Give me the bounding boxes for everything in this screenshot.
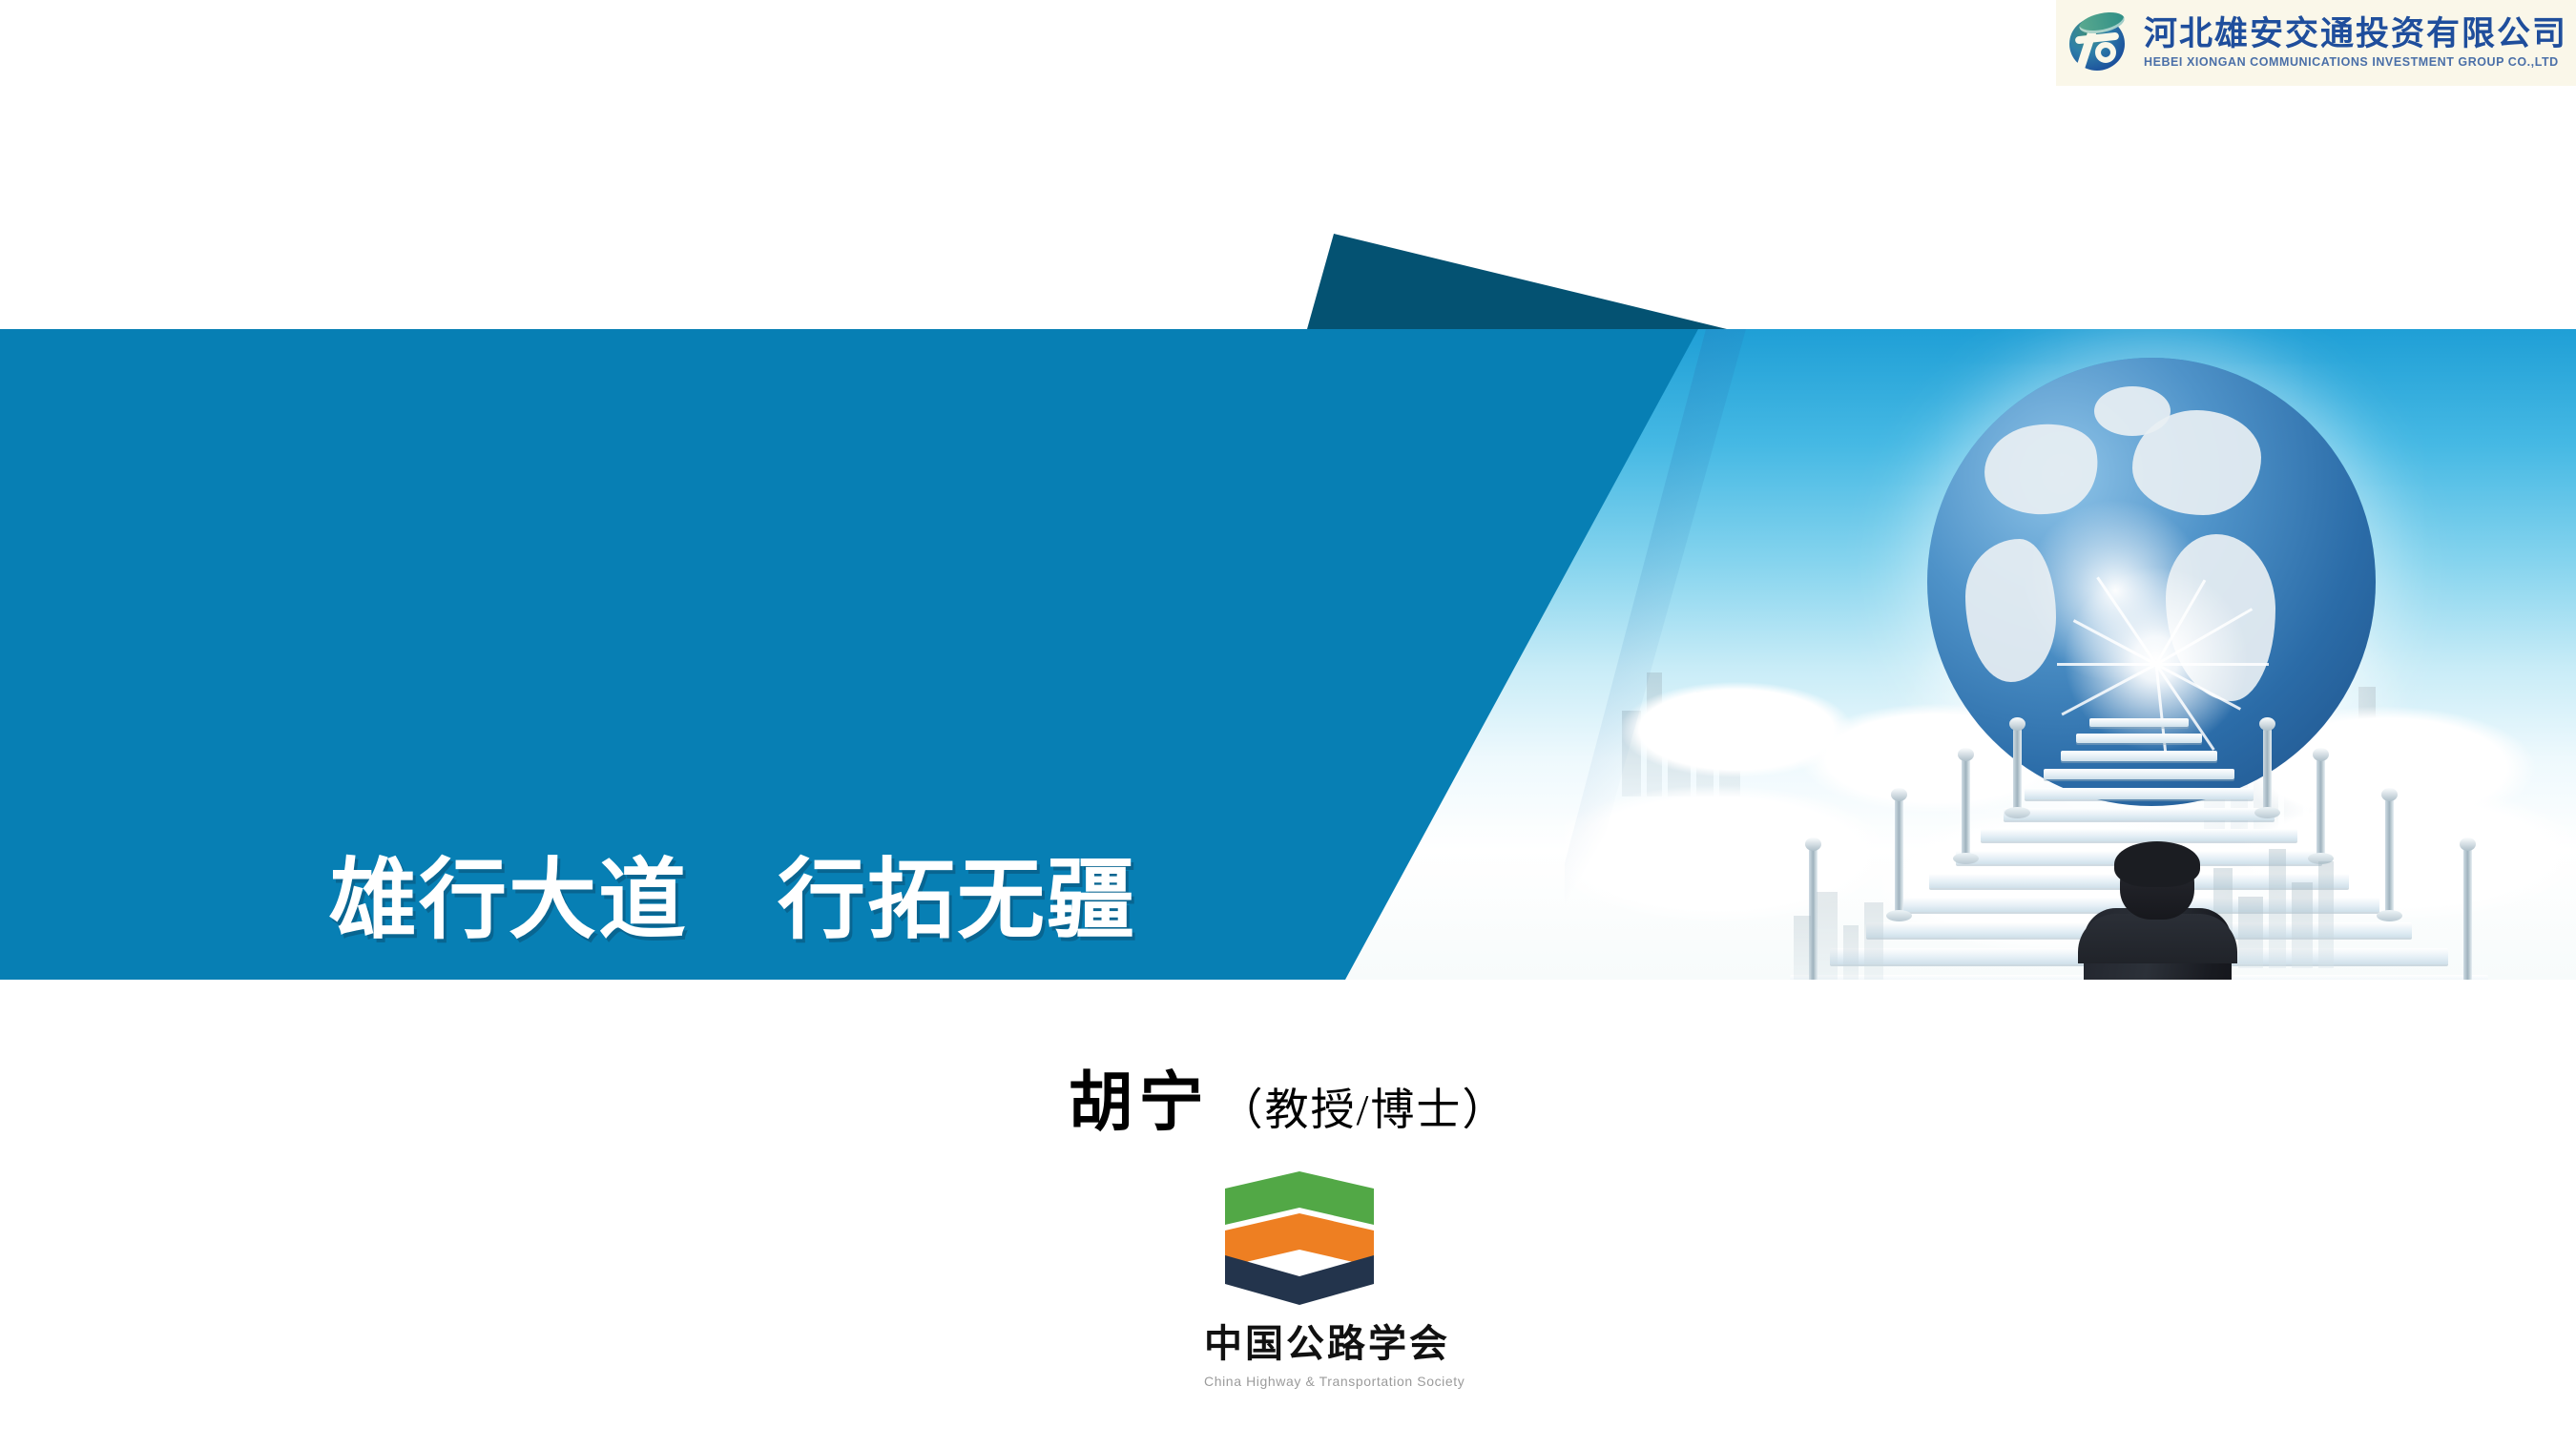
corporate-logo: 河北雄安交通投资有限公司 HEBEI XIONGAN COMMUNICATION… bbox=[2056, 0, 2576, 86]
society-name-cn: 中国公路学会 bbox=[1204, 1313, 1395, 1368]
globe-swoosh-logo-icon bbox=[2064, 13, 2134, 72]
presenter-line: 胡宁（教授/博士） bbox=[0, 1049, 2576, 1144]
hexagon-chevron-logo-icon bbox=[1225, 1171, 1374, 1303]
corporate-name-cn: 河北雄安交通投资有限公司 bbox=[2144, 17, 2567, 52]
society-name-en: China Highway & Transportation Society bbox=[1204, 1374, 1395, 1389]
society-logo: 中国公路学会 China Highway & Transportation So… bbox=[1204, 1171, 1395, 1389]
businessman-figure bbox=[2070, 849, 2242, 980]
slide-canvas: 河北雄安交通投资有限公司 HEBEI XIONGAN COMMUNICATION… bbox=[0, 0, 2576, 1448]
corporate-logo-text: 河北雄安交通投资有限公司 HEBEI XIONGAN COMMUNICATION… bbox=[2144, 17, 2567, 69]
presenter-name: 胡宁 bbox=[1069, 1066, 1210, 1139]
corporate-name-en: HEBEI XIONGAN COMMUNICATIONS INVESTMENT … bbox=[2144, 55, 2567, 69]
slide-title: 雄行大道 行拓无疆 bbox=[329, 829, 1136, 956]
skyline-bottom-left bbox=[1794, 892, 1883, 980]
presenter-credentials: （教授/博士） bbox=[1219, 1086, 1508, 1134]
hero-banner: 雄行大道 行拓无疆 ——雄安交投企业文化品牌解读与落地实施 bbox=[0, 329, 2576, 980]
navy-fold-triangle bbox=[1288, 234, 1727, 329]
